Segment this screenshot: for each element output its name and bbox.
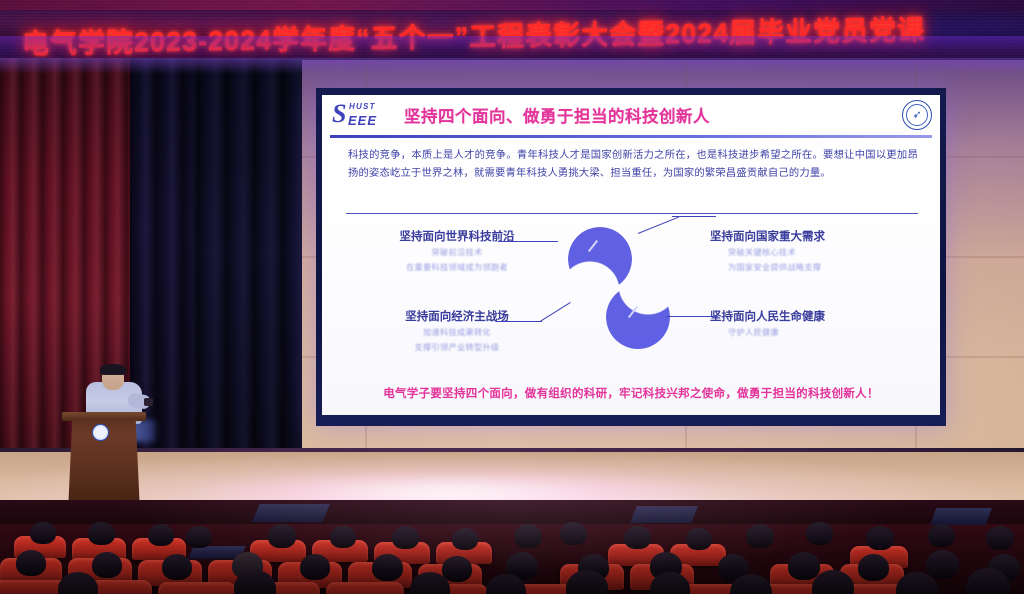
quadrant-subtext-2: 在重要科技领域成为领跑者 xyxy=(364,262,550,274)
auditorium-vignette xyxy=(0,500,1024,594)
quadrant-subtext-2: 支撑引领产业转型升级 xyxy=(364,342,550,354)
quadrant-subtext-1: 突破关键核心技术 xyxy=(710,247,896,259)
projection-screen-frame: S HUST EEE 坚持四个面向、做勇于担当的科技创新人 ➶ 科技的竞争，本质… xyxy=(316,88,946,426)
speaker-clicker xyxy=(144,398,153,406)
quadrant-subtext-1: 突破前沿技术 xyxy=(364,247,550,259)
connector-bottom-left xyxy=(496,321,542,322)
speaker-glasses-icon xyxy=(103,374,123,378)
quadrant-world-frontier: 坚持面向世界科技前沿 突破前沿技术 在重要科技领域成为领跑者 xyxy=(364,228,550,275)
quadrant-title: 坚持面向国家重大需求 xyxy=(710,228,896,244)
connector-top-right xyxy=(672,216,716,217)
quadrant-economy-mainfield: 坚持面向经济主战场 加速科技成果转化 支撑引领产业转型升级 xyxy=(364,308,550,355)
slide-paragraph: 科技的竞争，本质上是人才的竞争。青年科技人才是国家创新活力之所在，也是科技进步希… xyxy=(348,147,918,182)
connector-top-left xyxy=(498,241,558,242)
lectern-emblem-icon xyxy=(92,424,109,441)
seee-logo-eee: EEE xyxy=(348,113,377,128)
auditorium-seating xyxy=(0,500,1024,594)
connector-bottom-right xyxy=(666,316,718,317)
hust-university-emblem-icon: ➶ xyxy=(902,100,932,130)
banner-bloom xyxy=(0,36,1024,58)
emblem-bird-glyph: ➶ xyxy=(910,110,925,120)
presentation-slide: S HUST EEE 坚持四个面向、做勇于担当的科技创新人 ➶ 科技的竞争，本质… xyxy=(322,95,940,415)
seee-logo: S HUST EEE xyxy=(332,102,396,128)
four-orientations-pinwheel-icon xyxy=(554,223,694,363)
slide-conclusion-text: 电气学子要坚持四个面向，做有组织的科研，牢记科技兴邦之使命，做勇于担当的科技创新… xyxy=(340,385,922,401)
led-banner: 电气学院2023-2024学年度“五个一”工程表彰大会暨2024届毕业党员党课 xyxy=(0,0,1024,58)
quadrant-people-health: 坚持面向人民生命健康 守护人民健康 xyxy=(710,308,896,339)
seee-logo-s: S xyxy=(332,101,346,127)
slide-header: S HUST EEE 坚持四个面向、做勇于担当的科技创新人 ➶ xyxy=(322,95,940,135)
quadrant-subtext-1: 守护人民健康 xyxy=(710,327,896,339)
slide-title-underline xyxy=(330,135,932,138)
quadrant-subtext-2: 为国家安全提供战略支撑 xyxy=(710,262,896,274)
connector-top-right-diag xyxy=(638,217,679,235)
quadrant-subtext-1: 加速科技成果转化 xyxy=(364,327,550,339)
slide-title: 坚持四个面向、做勇于担当的科技创新人 xyxy=(404,103,710,127)
pinwheel-shape-lower xyxy=(606,285,670,349)
seee-logo-hust: HUST xyxy=(349,102,376,111)
slide-paragraph-divider xyxy=(346,213,918,214)
quadrant-title: 坚持面向人民生命健康 xyxy=(710,308,896,324)
pinwheel-shape-upper xyxy=(568,227,632,291)
quadrant-national-needs: 坚持面向国家重大需求 突破关键核心技术 为国家安全提供战略支撑 xyxy=(710,228,896,275)
auditorium-photo-scene: 电气学院2023-2024学年度“五个一”工程表彰大会暨2024届毕业党员党课 … xyxy=(0,0,1024,594)
